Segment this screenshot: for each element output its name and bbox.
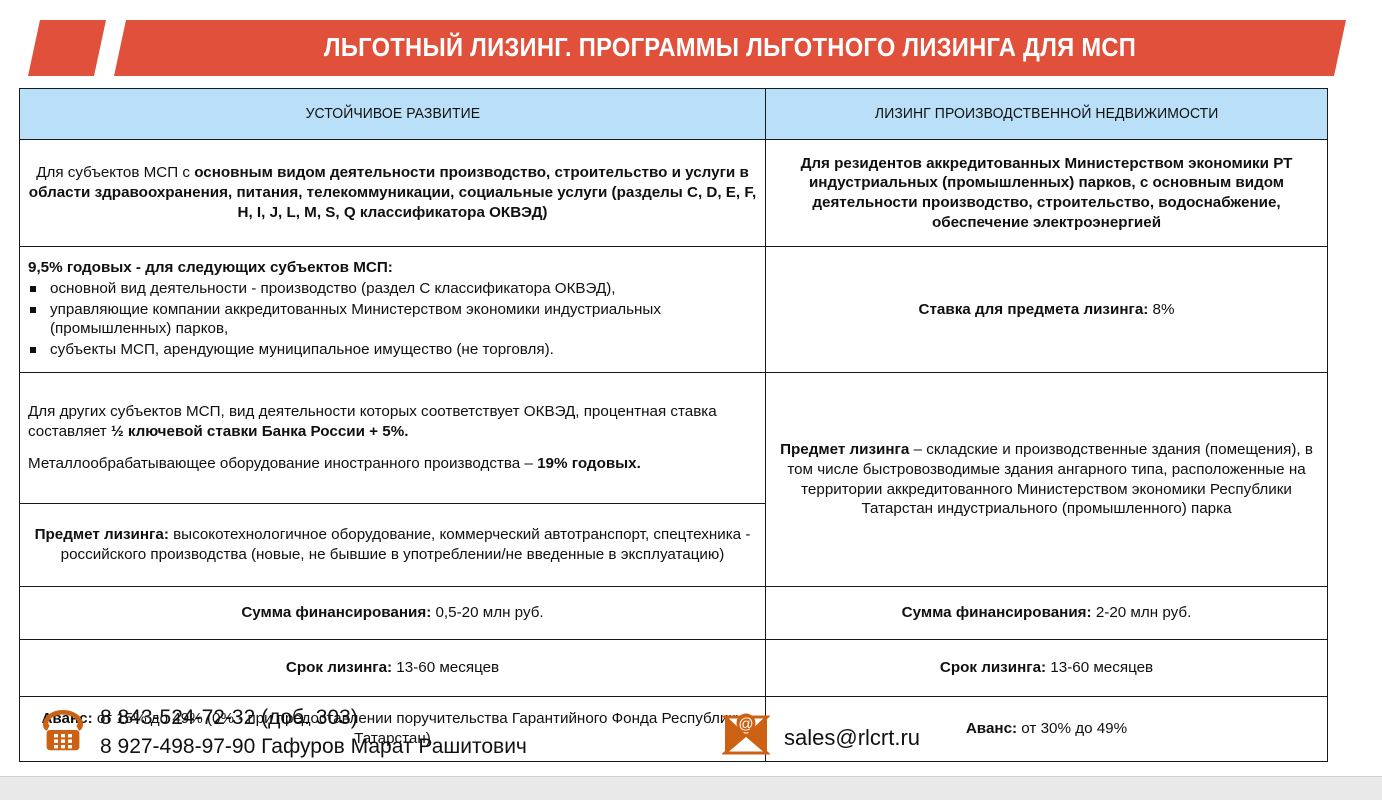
left-financing-value: 0,5-20 млн руб. — [431, 604, 543, 621]
cell-left-rate-notes: Для других субъектов МСП, вид деятельнос… — [20, 373, 766, 504]
table-header-row: УСТОЙЧИВОЕ РАЗВИТИЕ ЛИЗИНГ ПРОИЗВОДСТВЕН… — [20, 89, 1328, 140]
paragraph-spacer — [28, 441, 757, 454]
left-term-label: Срок лизинга: — [286, 659, 392, 676]
cell-left-financing: Сумма финансирования: 0,5-20 млн руб. — [20, 587, 766, 640]
page-title: ЛЬГОТНЫЙ ЛИЗИНГ. ПРОГРАММЫ ЛЬГОТНОГО ЛИЗ… — [157, 20, 1303, 76]
email-contact: @ sales@rlcrt.ru — [722, 713, 920, 762]
right-subject-label: Предмет лизинга — [780, 441, 909, 458]
left-metal-paragraph: Металлообрабатывающее оборудование иност… — [28, 454, 757, 474]
table-row-term: Срок лизинга: 13-60 месяцев Срок лизинга… — [20, 640, 1328, 697]
left-metal-bold: 19% годовых. — [537, 455, 641, 472]
right-eligibility-text: Для резидентов аккредитованных Министерс… — [801, 155, 1293, 231]
contacts-footer: 8 843-524-72-32 (доб. 303) 8 927-498-97-… — [0, 700, 1382, 774]
telephone-icon — [40, 709, 86, 756]
phone-line-secondary: 8 927-498-97-90 Гафуров Марат Рашитович — [100, 733, 527, 762]
left-rate-bullet-list: основной вид деятельности - производство… — [28, 279, 757, 360]
left-rate-heading: 9,5% годовых - для следующих субъектов М… — [28, 258, 757, 278]
table-row-eligibility: Для субъектов МСП с основным видом деяте… — [20, 140, 1328, 247]
cell-left-subject: Предмет лизинга: высокотехнологичное обо… — [20, 504, 766, 587]
cell-right-term: Срок лизинга: 13-60 месяцев — [766, 640, 1328, 697]
right-rate-value: 8% — [1148, 301, 1174, 318]
bottom-status-strip — [0, 776, 1382, 800]
left-eligibility-plain: Для субъектов МСП с — [36, 164, 194, 181]
svg-text:@: @ — [738, 716, 753, 733]
left-subject-label: Предмет лизинга: — [35, 526, 169, 543]
phone-contact: 8 843-524-72-32 (доб. 303) 8 927-498-97-… — [40, 704, 527, 761]
cell-right-financing: Сумма финансирования: 2-20 млн руб. — [766, 587, 1328, 640]
column-header-sustainable-development: УСТОЙЧИВОЕ РАЗВИТИЕ — [20, 89, 766, 140]
left-term-value: 13-60 месяцев — [392, 659, 499, 676]
list-item: управляющие компании аккредитованных Мин… — [28, 300, 757, 340]
list-item: субъекты МСП, арендующие муниципальное и… — [28, 340, 757, 360]
cell-left-term: Срок лизинга: 13-60 месяцев — [20, 640, 766, 697]
list-item: основной вид деятельности - производство… — [28, 279, 757, 299]
left-metal-plain: Металлообрабатывающее оборудование иност… — [28, 455, 537, 472]
phone-line-primary: 8 843-524-72-32 (доб. 303) — [100, 704, 527, 733]
right-term-value: 13-60 месяцев — [1046, 659, 1153, 676]
right-financing-label: Сумма финансирования: — [902, 604, 1092, 621]
table-row-rate: 9,5% годовых - для следующих субъектов М… — [20, 247, 1328, 373]
left-other-subjects-paragraph: Для других субъектов МСП, вид деятельнос… — [28, 402, 757, 442]
banner-accent-chip — [28, 20, 106, 76]
email-address[interactable]: sales@rlcrt.ru — [784, 725, 920, 751]
cell-right-rate: Ставка для предмета лизинга: 8% — [766, 247, 1328, 373]
cell-left-rate: 9,5% годовых - для следующих субъектов М… — [20, 247, 766, 373]
table-row-financing: Сумма финансирования: 0,5-20 млн руб. Су… — [20, 587, 1328, 640]
table-row-rate-notes: Для других субъектов МСП, вид деятельнос… — [20, 373, 1328, 504]
cell-right-subject: Предмет лизинга – складские и производст… — [766, 373, 1328, 587]
column-header-industrial-realty-leasing: ЛИЗИНГ ПРОИЗВОДСТВЕННОЙ НЕДВИЖИМОСТИ — [766, 89, 1328, 140]
column-header-left-label: УСТОЙЧИВОЕ РАЗВИТИЕ — [305, 104, 480, 124]
cell-right-eligibility: Для резидентов аккредитованных Министерс… — [766, 140, 1328, 247]
right-term-label: Срок лизинга: — [940, 659, 1046, 676]
right-financing-value: 2-20 млн руб. — [1092, 604, 1192, 621]
left-other-bold: ½ ключевой ставки Банка России + 5%. — [111, 423, 408, 440]
column-header-right-label: ЛИЗИНГ ПРОИЗВОДСТВЕННОЙ НЕДВИЖИМОСТИ — [875, 104, 1219, 124]
right-rate-label: Ставка для предмета лизинга: — [919, 301, 1149, 318]
phone-numbers: 8 843-524-72-32 (доб. 303) 8 927-498-97-… — [100, 704, 527, 761]
email-envelope-icon: @ — [722, 713, 770, 762]
cell-left-eligibility: Для субъектов МСП с основным видом деяте… — [20, 140, 766, 247]
left-financing-label: Сумма финансирования: — [241, 604, 431, 621]
programs-comparison-table: УСТОЙЧИВОЕ РАЗВИТИЕ ЛИЗИНГ ПРОИЗВОДСТВЕН… — [19, 88, 1328, 762]
title-banner: ЛЬГОТНЫЙ ЛИЗИНГ. ПРОГРАММЫ ЛЬГОТНОГО ЛИЗ… — [0, 20, 1382, 76]
